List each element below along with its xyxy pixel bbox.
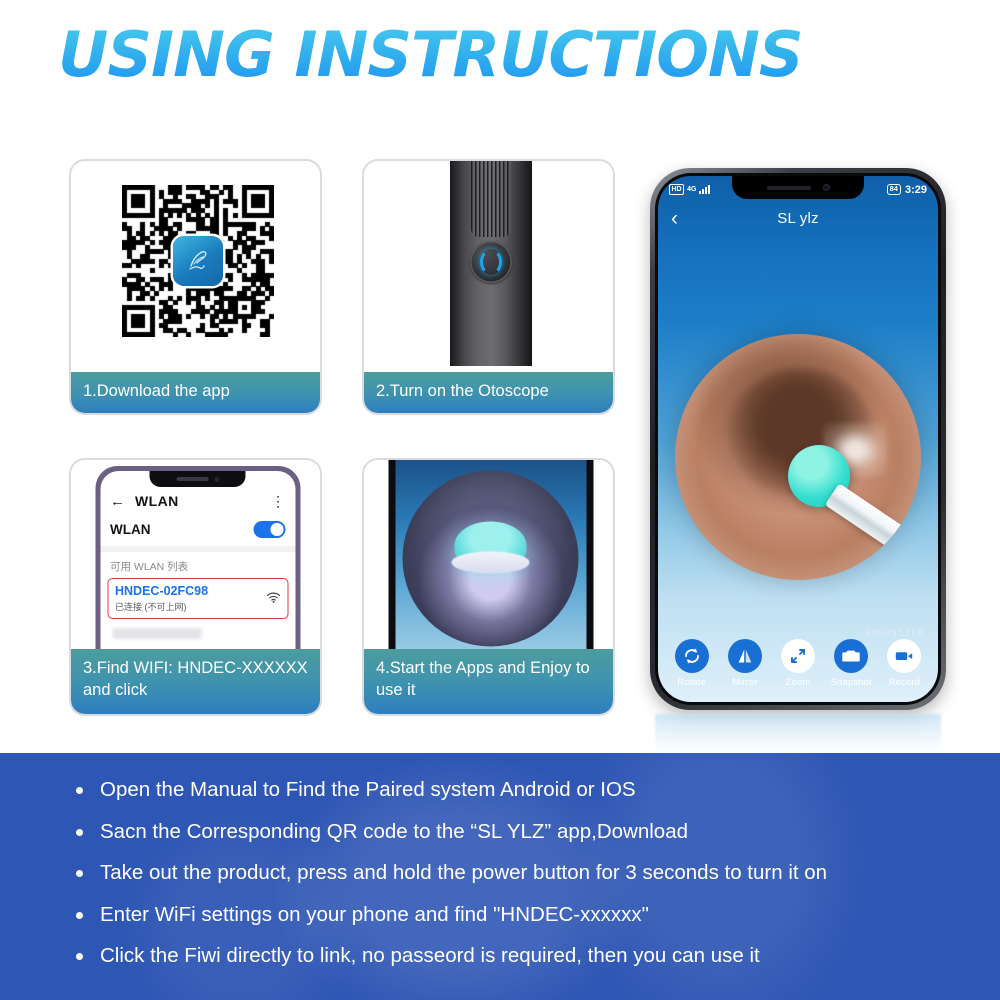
wlan-phone-frame: ← WLAN ⋮ WLAN 可用 WLAN 列表 HNDEC-02FC98 已连… bbox=[95, 466, 300, 665]
zoom-icon[interactable] bbox=[781, 639, 815, 673]
qr-code[interactable] bbox=[122, 185, 274, 337]
earpiece-speaker-icon bbox=[176, 477, 208, 481]
phone-bezel: HD 4G 84 3:29 ‹ SL ylz bbox=[655, 173, 941, 705]
toolbar-label-snapshot: Snapshot bbox=[831, 677, 872, 688]
step-card-find-wifi: ← WLAN ⋮ WLAN 可用 WLAN 列表 HNDEC-02FC98 已连… bbox=[69, 458, 322, 716]
back-arrow-icon[interactable]: ← bbox=[110, 494, 125, 509]
front-camera-icon bbox=[214, 477, 219, 482]
phone-frame: HD 4G 84 3:29 ‹ SL ylz bbox=[650, 168, 946, 710]
step-card-turn-on-otoscope: 2.Turn on the Otoscope bbox=[362, 159, 615, 415]
available-networks-label: 可用 WLAN 列表 bbox=[100, 552, 295, 578]
step-1-caption: 1.Download the app bbox=[71, 372, 320, 413]
wlan-phone-image: ← WLAN ⋮ WLAN 可用 WLAN 列表 HNDEC-02FC98 已连… bbox=[71, 460, 320, 665]
earwax-removal-tool bbox=[788, 437, 921, 557]
page-title: USING INSTRUCTIONS bbox=[58, 24, 803, 86]
step-3-caption: 3.Find WIFI: HNDEC-XXXXXX and click bbox=[71, 649, 320, 714]
wlan-toggle-label: WLAN bbox=[110, 522, 151, 537]
step-card-download-app: 1.Download the app bbox=[69, 159, 322, 415]
toolbar-label-record: Record bbox=[889, 677, 920, 688]
toolbar-item-mirror[interactable]: Mirror bbox=[723, 639, 766, 688]
wlan-toggle-row[interactable]: WLAN bbox=[100, 515, 295, 546]
camera-toolbar: RotateMirrorZoomSnapshotRecord bbox=[658, 639, 938, 688]
toolbar-item-snapshot[interactable]: Snapshot bbox=[830, 639, 873, 688]
wifi-status: 已连接 (不可上网) bbox=[115, 600, 208, 613]
wifi-ssid: HNDEC-02FC98 bbox=[115, 584, 208, 600]
instruction-bullet: Take out the product, press and hold the… bbox=[74, 863, 960, 884]
instruction-bullet: Open the Manual to Find the Paired syste… bbox=[74, 780, 960, 801]
app-title: SL ylz bbox=[658, 210, 938, 227]
toolbar-label-mirror: Mirror bbox=[732, 677, 757, 688]
tool-stem bbox=[825, 484, 916, 557]
clock-label: 3:29 bbox=[905, 184, 927, 196]
toolbar-label-zoom: Zoom bbox=[786, 677, 811, 688]
app-header: ‹ SL ylz bbox=[658, 204, 938, 232]
otoscope-device-image bbox=[364, 161, 613, 366]
page-header: USING INSTRUCTIONS bbox=[0, 24, 1000, 86]
app-logo-icon bbox=[173, 236, 223, 286]
toolbar-item-record[interactable]: Record bbox=[883, 639, 926, 688]
step-card-start-app: 4.Start the Apps and Enjoy to use it bbox=[362, 458, 615, 716]
phone-notch bbox=[732, 176, 864, 199]
otoscope-view-image bbox=[364, 460, 613, 665]
scope-screen bbox=[395, 460, 586, 665]
camera-icon[interactable] bbox=[834, 639, 868, 673]
toolbar-label-rotate: Rotate bbox=[677, 677, 706, 688]
toolbar-item-rotate[interactable]: Rotate bbox=[670, 639, 713, 688]
phone-screen: HD 4G 84 3:29 ‹ SL ylz bbox=[658, 176, 938, 702]
overflow-menu-icon[interactable]: ⋮ bbox=[271, 497, 285, 505]
wlan-toggle-switch[interactable] bbox=[253, 521, 285, 538]
signal-strength-icon bbox=[699, 185, 709, 194]
instruction-bullet: Enter WiFi settings on your phone and fi… bbox=[74, 905, 960, 926]
earpiece-speaker-icon bbox=[767, 186, 811, 190]
qr-code-area bbox=[71, 161, 320, 361]
scope-circular-view bbox=[403, 470, 579, 646]
video-icon[interactable] bbox=[887, 639, 921, 673]
instruction-bullet-list: Open the Manual to Find the Paired syste… bbox=[0, 753, 1000, 967]
power-indicator-icon bbox=[480, 249, 502, 275]
scope-phone-frame bbox=[388, 460, 593, 665]
front-camera-icon bbox=[823, 184, 830, 191]
wifi-network-item[interactable]: HNDEC-02FC98 已连接 (不可上网) bbox=[107, 578, 288, 620]
hd-badge-icon: HD bbox=[669, 184, 684, 195]
otoscope-grille bbox=[471, 161, 511, 237]
wlan-header-title: WLAN bbox=[135, 493, 179, 509]
step-4-caption: 4.Start the Apps and Enjoy to use it bbox=[364, 649, 613, 714]
power-button[interactable] bbox=[470, 241, 512, 283]
otoscope-handle bbox=[450, 161, 532, 366]
app-preview-phone: HD 4G 84 3:29 ‹ SL ylz bbox=[650, 168, 946, 710]
wlan-screen: ← WLAN ⋮ WLAN 可用 WLAN 列表 HNDEC-02FC98 已连… bbox=[100, 471, 295, 665]
rotate-icon[interactable] bbox=[675, 639, 709, 673]
instruction-bullet: Sacn the Corresponding QR code to the “S… bbox=[74, 822, 960, 843]
blurred-network-row bbox=[112, 628, 283, 639]
status-bar-left: HD 4G bbox=[669, 184, 710, 195]
status-bar-right: 84 3:29 bbox=[887, 184, 927, 196]
toolbar-item-zoom[interactable]: Zoom bbox=[776, 639, 819, 688]
phone-notch bbox=[150, 471, 246, 487]
network-type-label: 4G bbox=[687, 186, 696, 193]
step-2-caption: 2.Turn on the Otoscope bbox=[364, 372, 613, 413]
ear-canal-camera-view bbox=[675, 334, 921, 580]
instructions-footer: Open the Manual to Find the Paired syste… bbox=[0, 753, 1000, 1000]
battery-icon: 84 bbox=[887, 184, 901, 195]
scope-tissue-highlight bbox=[452, 551, 530, 573]
wifi-signal-icon bbox=[266, 591, 280, 606]
instruction-bullet: Click the Fiwi directly to link, no pass… bbox=[74, 946, 960, 967]
watermark-number: 9800952I6 bbox=[864, 628, 924, 639]
mirror-icon[interactable] bbox=[728, 639, 762, 673]
